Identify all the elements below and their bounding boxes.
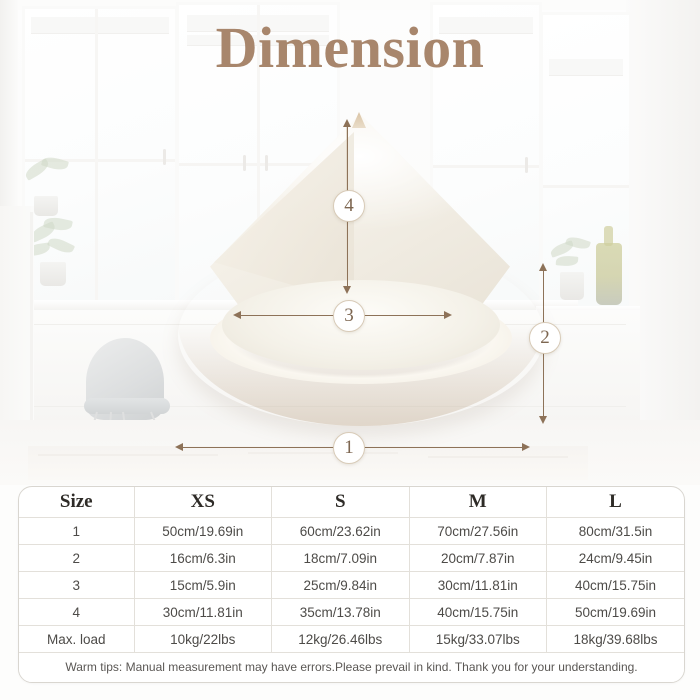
cell-xs: 50cm/19.69in: [134, 518, 271, 545]
cell-l: 24cm/9.45in: [546, 545, 684, 572]
table-row: Max. load 10kg/22lbs 12kg/26.46lbs 15kg/…: [19, 626, 684, 653]
dimension-infographic: 4 3 2 1 Dimension Size XS S M: [0, 0, 700, 700]
floor-lamp-pole: [30, 212, 33, 450]
cell-xs: 16cm/6.3in: [134, 545, 271, 572]
cell-l: 40cm/15.75in: [546, 572, 684, 599]
cell-m: 70cm/27.56in: [409, 518, 546, 545]
size-spec-table: Size XS S M L 1 50cm/19.69in 60cm/23.62i…: [18, 486, 685, 683]
col-header-size: Size: [19, 487, 134, 518]
cell-m: 30cm/11.81in: [409, 572, 546, 599]
cell-l: 80cm/31.5in: [546, 518, 684, 545]
cell-xs: 15cm/5.9in: [134, 572, 271, 599]
spec-table: Size XS S M L 1 50cm/19.69in 60cm/23.62i…: [19, 487, 684, 653]
cell-xs: 30cm/11.81in: [134, 599, 271, 626]
cell-m: 20cm/7.87in: [409, 545, 546, 572]
table-row: 4 30cm/11.81in 35cm/13.78in 40cm/15.75in…: [19, 599, 684, 626]
rug: [28, 446, 588, 480]
callout-marker-2: 2: [529, 322, 561, 354]
pet-bed-product-image: [170, 112, 552, 434]
callout-marker-1: 1: [333, 432, 365, 464]
cell-m: 40cm/15.75in: [409, 599, 546, 626]
cell-xs: 10kg/22lbs: [134, 626, 271, 653]
callout-marker-4: 4: [333, 190, 365, 222]
callout-marker-3: 3: [333, 300, 365, 332]
cell-s: 18cm/7.09in: [272, 545, 409, 572]
cell-s: 60cm/23.62in: [272, 518, 409, 545]
row-label: 4: [19, 599, 134, 626]
table-row: 3 15cm/5.9in 25cm/9.84in 30cm/11.81in 40…: [19, 572, 684, 599]
page-title: Dimension: [0, 14, 700, 81]
col-header-l: L: [546, 487, 684, 518]
cell-m: 15kg/33.07lbs: [409, 626, 546, 653]
cell-s: 12kg/26.46lbs: [272, 626, 409, 653]
col-header-m: M: [409, 487, 546, 518]
col-header-s: S: [272, 487, 409, 518]
spec-table-body: 1 50cm/19.69in 60cm/23.62in 70cm/27.56in…: [19, 518, 684, 653]
row-label: 2: [19, 545, 134, 572]
cell-l: 18kg/39.68lbs: [546, 626, 684, 653]
glass-bottle: [596, 243, 622, 305]
col-header-xs: XS: [134, 487, 271, 518]
row-label: 1: [19, 518, 134, 545]
cell-l: 50cm/19.69in: [546, 599, 684, 626]
cell-s: 25cm/9.84in: [272, 572, 409, 599]
cabinet: [0, 206, 34, 450]
warm-tips-note: Warm tips: Manual measurement may have e…: [19, 653, 684, 682]
table-header-row: Size XS S M L: [19, 487, 684, 518]
table-row: 1 50cm/19.69in 60cm/23.62in 70cm/27.56in…: [19, 518, 684, 545]
table-row: 2 16cm/6.3in 18cm/7.09in 20cm/7.87in 24c…: [19, 545, 684, 572]
row-label: Max. load: [19, 626, 134, 653]
row-label: 3: [19, 572, 134, 599]
cell-s: 35cm/13.78in: [272, 599, 409, 626]
